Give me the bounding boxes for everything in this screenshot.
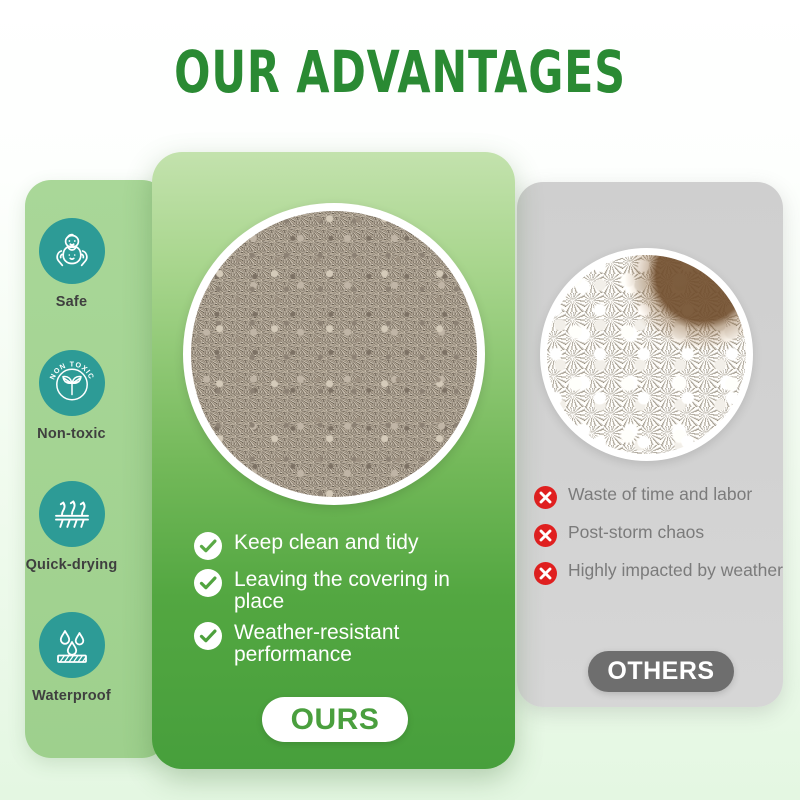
ours-label-pill: OURS (262, 697, 408, 742)
non-toxic-leaf-icon: NON TOXIC (39, 350, 105, 416)
quick-drying-arrows-icon (39, 481, 105, 547)
baby-safe-icon (39, 218, 105, 284)
feature-label: Non-toxic (0, 426, 143, 442)
drawback-text: Waste of time and labor (568, 484, 752, 505)
feature-item-quick-drying: Quick-drying (0, 481, 143, 573)
benefit-text: Leaving the covering in place (234, 567, 503, 614)
drawback-text: Highly impacted by weather (568, 560, 783, 581)
feature-label: Quick-drying (0, 557, 143, 573)
feature-item-non-toxic: NON TOXIC Non-toxic (0, 350, 143, 442)
page-title: OUR ADVANTAGES (72, 38, 728, 106)
list-item: Highly impacted by weather (533, 560, 791, 586)
benefit-text: Keep clean and tidy (234, 530, 418, 554)
check-circle-icon (193, 531, 223, 561)
cross-circle-icon (533, 523, 558, 548)
waterproof-droplets-icon (39, 612, 105, 678)
svg-text:NON TOXIC: NON TOXIC (47, 359, 96, 380)
benefit-text: Weather-resistant performance (234, 620, 503, 667)
ours-gravel-texture (191, 211, 477, 497)
cross-circle-icon (533, 561, 558, 586)
check-circle-icon (193, 568, 223, 598)
others-gravel-texture (547, 255, 746, 454)
feature-label: Safe (0, 294, 143, 310)
others-label-pill: OTHERS (588, 651, 734, 692)
feature-item-safe: Safe (0, 218, 143, 310)
feature-item-waterproof: Waterproof (0, 612, 143, 704)
cross-circle-icon (533, 485, 558, 510)
list-item: Post-storm chaos (533, 522, 791, 548)
list-item: Keep clean and tidy (193, 530, 503, 561)
list-item: Weather-resistant performance (193, 620, 503, 667)
ours-product-photo (183, 203, 485, 505)
list-item: Leaving the covering in place (193, 567, 503, 614)
drawback-text: Post-storm chaos (568, 522, 704, 543)
others-product-photo (540, 248, 753, 461)
list-item: Waste of time and labor (533, 484, 791, 510)
ours-benefit-list: Keep clean and tidy Leaving the covering… (193, 530, 503, 672)
check-circle-icon (193, 621, 223, 651)
others-drawback-list: Waste of time and labor Post-storm chaos… (533, 484, 791, 598)
feature-label: Waterproof (0, 688, 143, 704)
